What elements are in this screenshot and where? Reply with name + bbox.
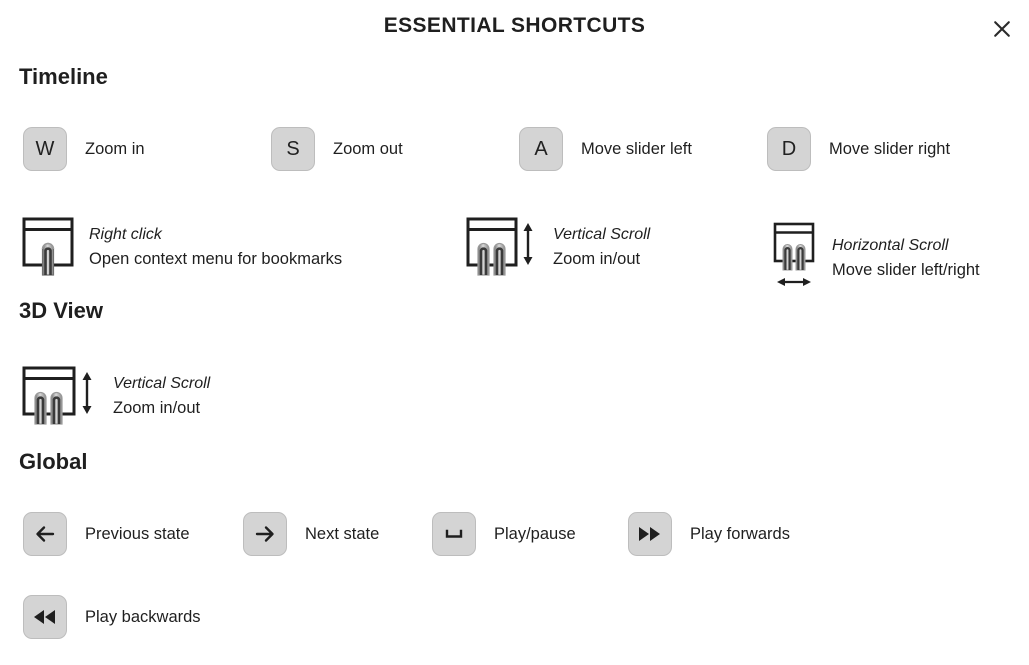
arrow-right-icon: [253, 522, 277, 546]
shortcut-play-forwards[interactable]: Play forwards: [628, 512, 790, 556]
shortcut-label: Move slider left: [581, 140, 692, 159]
shortcut-move-slider-right[interactable]: D Move slider right: [767, 127, 950, 171]
shortcut-label: Zoom out: [333, 140, 403, 159]
page-title: ESSENTIAL SHORTCUTS: [0, 14, 1029, 38]
shortcut-next-state[interactable]: Next state: [243, 512, 379, 556]
keycap-arrow-right[interactable]: [243, 512, 287, 556]
keycap-w[interactable]: W: [23, 127, 67, 171]
shortcut-label: Play backwards: [85, 608, 201, 627]
fast-forward-icon: [637, 524, 663, 544]
gesture-text: Right click Open context menu for bookma…: [89, 224, 342, 270]
gesture-action: Vertical Scroll: [553, 224, 650, 246]
timeline-key-row: W Zoom in S Zoom out A Move slider left …: [0, 127, 1029, 175]
keycap-rewind[interactable]: [23, 595, 67, 639]
gesture-description: Zoom in/out: [553, 248, 650, 270]
essential-shortcuts-dialog: ESSENTIAL SHORTCUTS Timeline W Zoom in S…: [0, 0, 1029, 665]
trackpad-vertical-scroll-icon: [21, 365, 99, 427]
shortcut-play-backwards[interactable]: Play backwards: [23, 595, 201, 639]
trackpad-vertical-scroll-icon: [465, 216, 539, 278]
gesture-action: Right click: [89, 224, 342, 246]
shortcut-zoom-out[interactable]: S Zoom out: [271, 127, 403, 171]
view3d-gesture-row: Vertical Scroll Zoom in/out: [0, 365, 1029, 435]
shortcut-zoom-in[interactable]: W Zoom in: [23, 127, 145, 171]
keycap-arrow-left[interactable]: [23, 512, 67, 556]
keycap-s[interactable]: S: [271, 127, 315, 171]
space-bar-icon: [442, 522, 466, 546]
shortcut-move-slider-left[interactable]: A Move slider left: [519, 127, 692, 171]
gesture-text: Horizontal Scroll Move slider left/right: [832, 235, 980, 281]
keycap-fast-forward[interactable]: [628, 512, 672, 556]
arrow-left-icon: [33, 522, 57, 546]
keycap-d[interactable]: D: [767, 127, 811, 171]
global-key-row-1: Previous state Next state Play/pause: [0, 512, 1029, 560]
shortcut-label: Play/pause: [494, 525, 576, 544]
gesture-vertical-scroll-timeline[interactable]: Vertical Scroll Zoom in/out: [465, 216, 650, 278]
gesture-right-click[interactable]: Right click Open context menu for bookma…: [21, 216, 342, 278]
shortcut-label: Play forwards: [690, 525, 790, 544]
gesture-description: Open context menu for bookmarks: [89, 248, 342, 270]
shortcut-previous-state[interactable]: Previous state: [23, 512, 190, 556]
gesture-action: Vertical Scroll: [113, 373, 210, 395]
section-heading-3d-view: 3D View: [19, 298, 103, 324]
shortcut-label: Move slider right: [829, 140, 950, 159]
gesture-vertical-scroll-3dview[interactable]: Vertical Scroll Zoom in/out: [21, 365, 210, 427]
gesture-text: Vertical Scroll Zoom in/out: [553, 224, 650, 270]
section-heading-global: Global: [19, 449, 87, 475]
global-key-row-2: Play backwards: [0, 595, 1029, 643]
shortcut-play-pause[interactable]: Play/pause: [432, 512, 576, 556]
gesture-description: Move slider left/right: [832, 259, 980, 281]
rewind-icon: [32, 607, 58, 627]
shortcut-label: Previous state: [85, 525, 190, 544]
dialog-header: ESSENTIAL SHORTCUTS: [0, 0, 1029, 56]
trackpad-right-click-icon: [21, 216, 75, 278]
close-icon[interactable]: [985, 12, 1019, 46]
gesture-text: Vertical Scroll Zoom in/out: [113, 373, 210, 419]
section-heading-timeline: Timeline: [19, 64, 108, 90]
keycap-space[interactable]: [432, 512, 476, 556]
keycap-a[interactable]: A: [519, 127, 563, 171]
shortcut-label: Zoom in: [85, 140, 145, 159]
trackpad-horizontal-scroll-icon: [770, 222, 818, 294]
timeline-gesture-row: Right click Open context menu for bookma…: [0, 212, 1029, 282]
shortcut-label: Next state: [305, 525, 379, 544]
gesture-action: Horizontal Scroll: [832, 235, 980, 257]
gesture-horizontal-scroll[interactable]: Horizontal Scroll Move slider left/right: [770, 222, 980, 294]
gesture-description: Zoom in/out: [113, 397, 210, 419]
